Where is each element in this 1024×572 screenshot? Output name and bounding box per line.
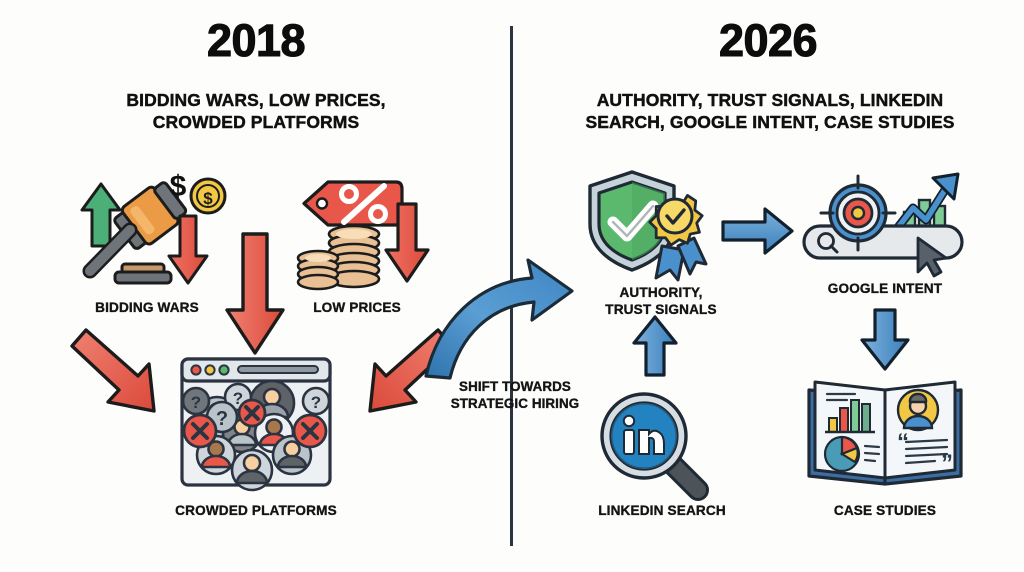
right-panel-year: 2026 — [512, 18, 1024, 63]
dollar-glyph: $ — [170, 170, 187, 203]
left-panel-year: 2018 — [0, 18, 512, 63]
target-searchbar-chart-icon — [800, 168, 970, 278]
arrow-left-diagonal — [66, 326, 176, 416]
year-2018: 2018 — [0, 18, 512, 63]
right-panel-subheading: AUTHORITY, TRUST SIGNALS, LINKEDIN SEARC… — [546, 89, 994, 134]
svg-text:?: ? — [216, 408, 228, 430]
shield-check-badge-icon — [586, 168, 708, 284]
infographic-canvas: 2018 BIDDING WARS, LOW PRICES, CROWDED P… — [0, 0, 1024, 572]
label-bidding-wars: BIDDING WARS — [62, 300, 232, 317]
arrow-bidding-down — [167, 214, 209, 286]
label-crowded-platforms: CROWDED PLATFORMS — [156, 503, 356, 520]
shift-curved-arrow — [420, 258, 590, 383]
year-2026: 2026 — [512, 18, 1024, 63]
coin-stack-short — [298, 251, 338, 289]
label-shift-towards-strategic-hiring: SHIFT TOWARDS STRATEGIC HIRING — [432, 378, 598, 413]
label-authority-trust-signals: AUTHORITY, TRUST SIGNALS — [588, 285, 734, 318]
gold-coin: $ — [191, 179, 225, 213]
arrow-intent-to-cases — [858, 308, 912, 372]
gavel-block — [115, 264, 171, 283]
svg-text:?: ? — [311, 393, 321, 412]
browser-crowd-icon: ? ? ? ? — [172, 355, 340, 495]
label-case-studies: CASE STUDIES — [800, 503, 970, 520]
arrow-authority-to-intent — [721, 206, 795, 256]
left-panel-subheading: BIDDING WARS, LOW PRICES, CROWDED PLATFO… — [46, 89, 466, 134]
label-low-prices: LOW PRICES — [272, 300, 442, 317]
svg-text:$: $ — [203, 189, 213, 208]
arrow-center-down — [224, 232, 286, 357]
label-google-intent: GOOGLE INTENT — [800, 281, 970, 298]
linkedin-magnifier-icon — [598, 390, 716, 502]
svg-text:?: ? — [191, 393, 201, 412]
label-linkedin-search: LINKEDIN SEARCH — [572, 503, 752, 520]
open-book-report-icon: “ ” — [803, 372, 967, 490]
arrow-linkedin-to-authority — [630, 315, 680, 377]
